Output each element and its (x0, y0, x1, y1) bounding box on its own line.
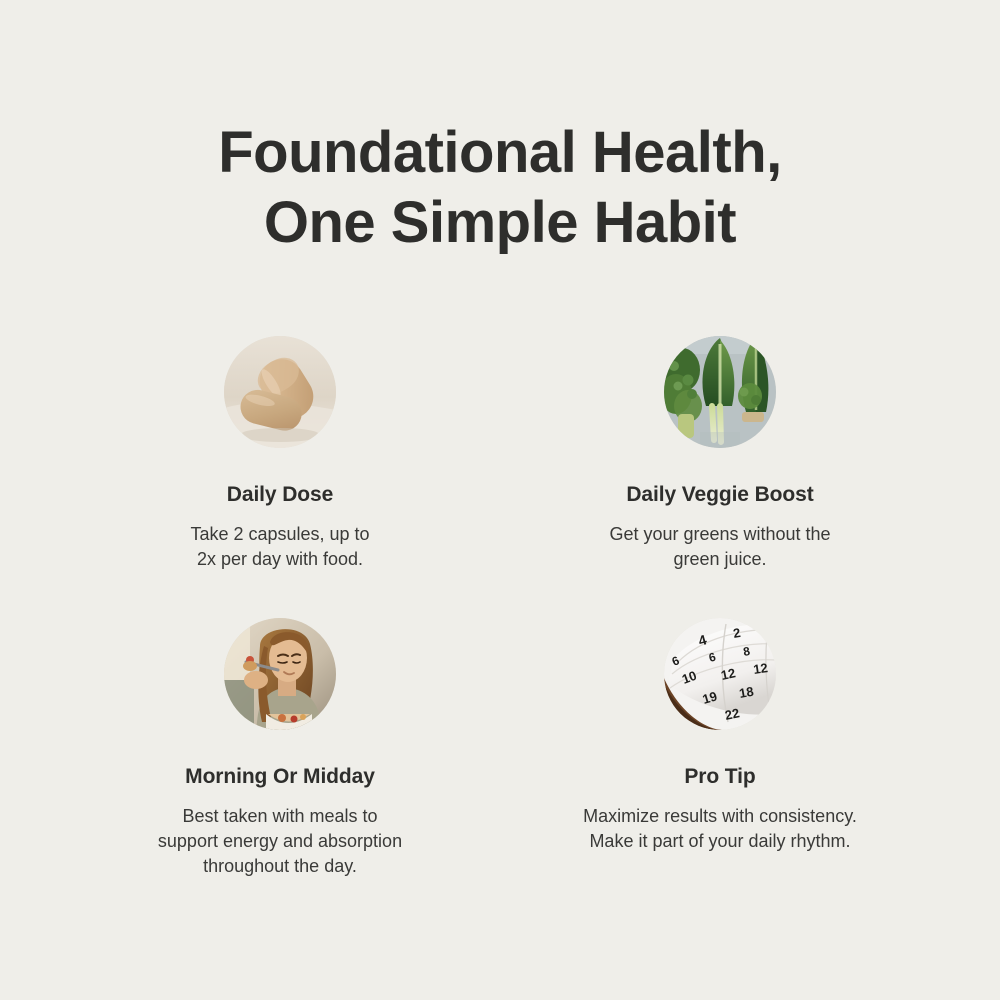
desc-line: throughout the day. (158, 854, 402, 879)
desc-line: Take 2 capsules, up to (190, 522, 369, 547)
desc-line: Best taken with meals to (158, 804, 402, 829)
desc-line: Make it part of your daily rhythm. (583, 829, 857, 854)
desc-line: 2x per day with food. (190, 547, 369, 572)
feature-card-morning-or-midday: Morning Or Midday Best taken with meals … (60, 618, 500, 879)
desc-line: green juice. (609, 547, 830, 572)
leafy-greens-photo (664, 336, 776, 448)
promo-page: Foundational Health, One Simple Habit (0, 0, 1000, 1000)
calendar-number: 18 (738, 684, 755, 701)
feature-description: Take 2 capsules, up to 2x per day with f… (190, 522, 369, 572)
feature-title: Pro Tip (684, 764, 755, 790)
headline-line-1: Foundational Health, (0, 118, 1000, 188)
woman-eating-photo (224, 618, 336, 730)
feature-card-daily-veggie-boost: Daily Veggie Boost Get your greens witho… (500, 336, 940, 572)
calendar-number: 12 (752, 660, 768, 677)
desc-line: Maximize results with consistency. (583, 804, 857, 829)
feature-card-pro-tip: 4 2 6 6 8 10 12 12 19 18 22 Pro Tip (500, 618, 940, 879)
feature-title: Morning Or Midday (185, 764, 375, 790)
feature-title: Daily Veggie Boost (626, 482, 813, 508)
calendar-number: 12 (720, 665, 737, 683)
calendar-pages-photo: 4 2 6 6 8 10 12 12 19 18 22 (664, 618, 776, 730)
feature-description: Best taken with meals to support energy … (158, 804, 402, 879)
headline-line-2: One Simple Habit (0, 188, 1000, 258)
desc-line: support energy and absorption (158, 829, 402, 854)
feature-grid: Daily Dose Take 2 capsules, up to 2x per… (60, 336, 940, 879)
page-title: Foundational Health, One Simple Habit (0, 118, 1000, 258)
feature-title: Daily Dose (227, 482, 333, 508)
feature-description: Get your greens without the green juice. (609, 522, 830, 572)
desc-line: Get your greens without the (609, 522, 830, 547)
calendar-number: 22 (724, 705, 741, 723)
capsules-photo (224, 336, 336, 448)
feature-description: Maximize results with consistency. Make … (583, 804, 857, 854)
feature-card-daily-dose: Daily Dose Take 2 capsules, up to 2x per… (60, 336, 500, 572)
